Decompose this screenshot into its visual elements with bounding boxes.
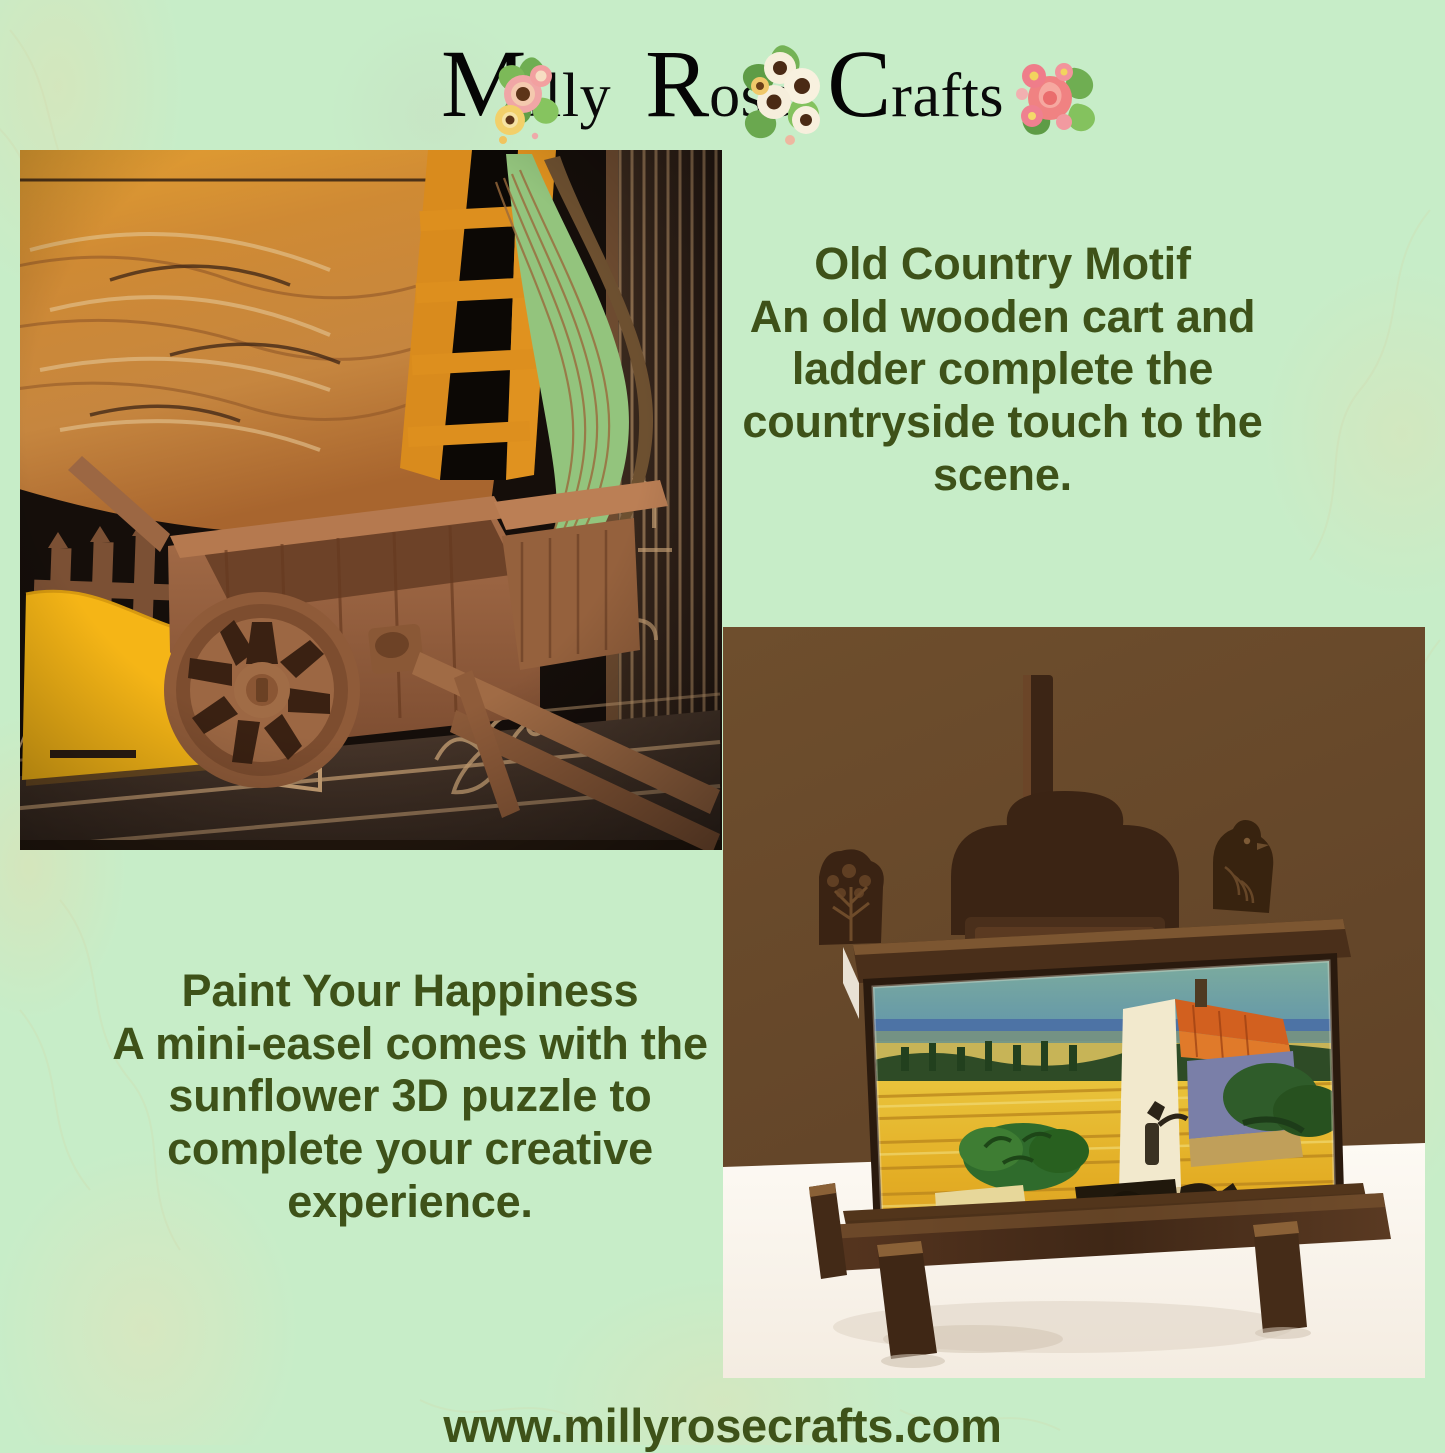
logo-letter-r: R [645,30,709,137]
logo-word-crafts: rafts [891,62,1004,130]
feature-left-headline: Paint Your Happiness [110,965,710,1018]
logo-word-rose: ose [709,62,793,130]
logo-letter-c: C [827,30,891,137]
photo-mini-easel [723,627,1425,1378]
logo-letter-m: M [441,30,526,137]
feature-left-body: A mini-easel comes with the sunflower 3D… [110,1018,710,1229]
photo-cart-diorama: wer [20,150,722,850]
logo-word-milly: illy [526,62,611,130]
feature-text-right: Old Country Motif An old wooden cart and… [715,238,1290,501]
feature-text-left: Paint Your Happiness A mini-easel comes … [110,965,710,1228]
feature-right-headline: Old Country Motif [715,238,1290,291]
feature-right-body: An old wooden cart and ladder complete t… [715,291,1290,502]
brand-logo: MillyRoseCrafts [0,34,1445,134]
brand-logo-text: MillyRoseCrafts [441,36,1004,132]
floral-cluster-c-icon [1014,54,1110,146]
